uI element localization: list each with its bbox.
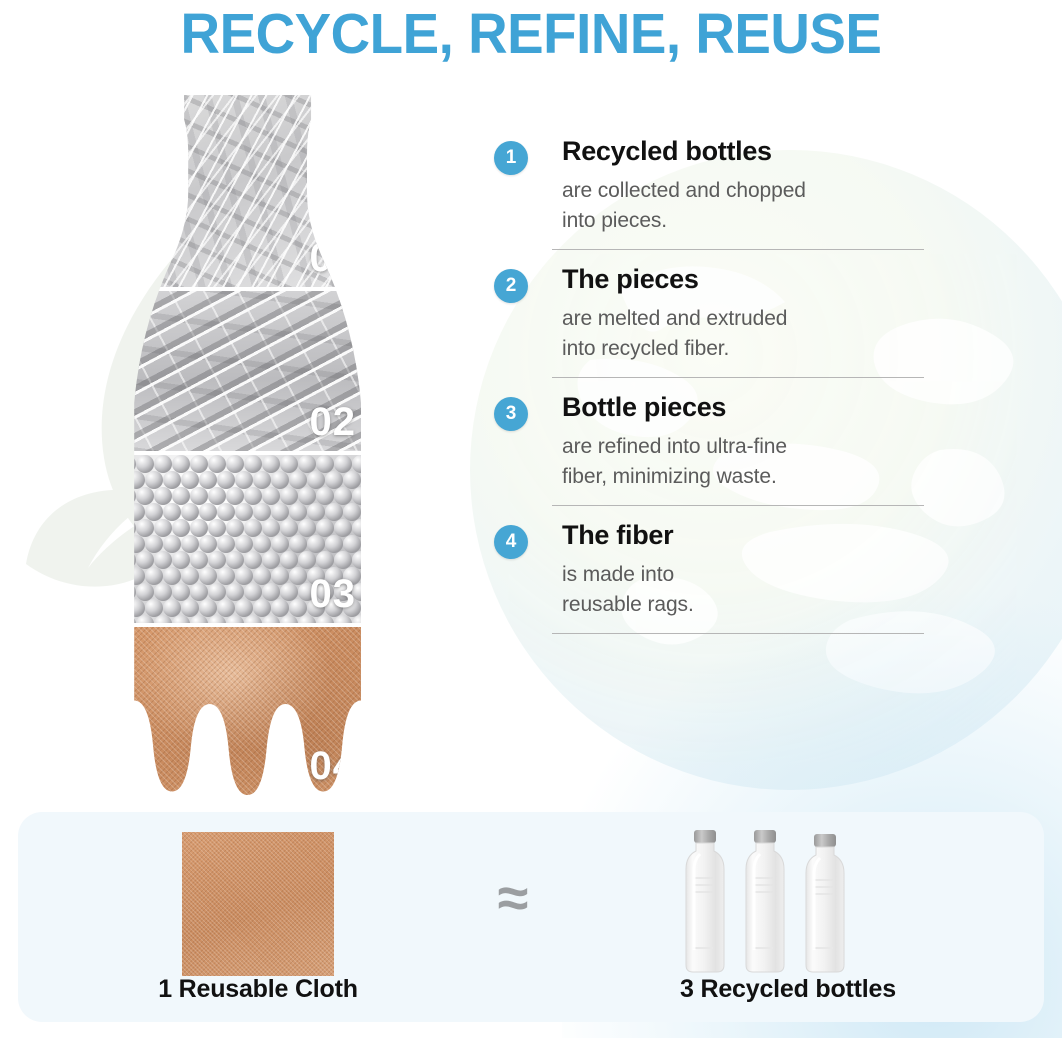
comparison-left-label: 1 Reusable Cloth bbox=[78, 975, 438, 1004]
process-step-2: 2 The pieces are melted and extruded int… bbox=[490, 262, 942, 378]
step-description: are refined into ultra-fine fiber, minim… bbox=[562, 432, 942, 492]
band-separator bbox=[118, 623, 388, 627]
step-title: Recycled bottles bbox=[562, 134, 942, 168]
band-number-label: 02 bbox=[310, 400, 357, 445]
step-divider bbox=[552, 249, 924, 250]
comparison-operator-wrap: ≈ bbox=[448, 812, 578, 1022]
bottle-band-03: 03 bbox=[118, 455, 388, 623]
step-number-badge: 3 bbox=[494, 397, 528, 431]
process-step-1: 1 Recycled bottles are collected and cho… bbox=[490, 134, 942, 250]
comparison-left-item: 1 Reusable Cloth bbox=[78, 812, 438, 1022]
process-step-4: 4 The fiber is made into reusable rags. bbox=[490, 518, 942, 634]
bottle-band-02: 02 bbox=[118, 291, 388, 451]
bottle-band-01: 01 bbox=[118, 95, 388, 287]
step-number-badge: 2 bbox=[494, 269, 528, 303]
band-separator bbox=[118, 451, 388, 455]
step-number-badge: 1 bbox=[494, 141, 528, 175]
comparison-right-label: 3 Recycled bottles bbox=[578, 975, 998, 1004]
cloth-swatch-icon bbox=[182, 832, 334, 976]
infographic-page: RECYCLE, REFINE, REUSE 01 02 bbox=[0, 0, 1062, 1038]
step-divider bbox=[552, 377, 924, 378]
step-description: is made into reusable rags. bbox=[562, 560, 942, 620]
step-title: The fiber bbox=[562, 518, 942, 552]
band-number-label: 01 bbox=[310, 236, 357, 281]
equivalence-card: 1 Reusable Cloth ≈ bbox=[18, 812, 1044, 1022]
step-title: The pieces bbox=[562, 262, 942, 296]
band-number-label: 04 bbox=[310, 744, 357, 789]
comparison-right-item: 3 Recycled bottles bbox=[578, 812, 998, 1022]
step-title: Bottle pieces bbox=[562, 390, 942, 424]
approximately-equal-icon: ≈ bbox=[448, 812, 578, 1022]
step-description: are melted and extruded into recycled fi… bbox=[562, 304, 942, 364]
step-description: are collected and chopped into pieces. bbox=[562, 176, 942, 236]
step-divider bbox=[552, 505, 924, 506]
bottle-stage-diagram: 01 02 bbox=[118, 95, 388, 795]
step-number-badge: 4 bbox=[494, 525, 528, 559]
process-steps-list: 1 Recycled bottles are collected and cho… bbox=[490, 134, 942, 646]
band-separator bbox=[118, 287, 388, 291]
three-bottles-icon bbox=[674, 824, 870, 976]
page-title: RECYCLE, REFINE, REUSE bbox=[21, 2, 1041, 66]
process-step-3: 3 Bottle pieces are refined into ultra-f… bbox=[490, 390, 942, 506]
band-number-label: 03 bbox=[310, 572, 357, 617]
bottle-band-04: 04 bbox=[118, 627, 388, 795]
step-divider bbox=[552, 633, 924, 634]
